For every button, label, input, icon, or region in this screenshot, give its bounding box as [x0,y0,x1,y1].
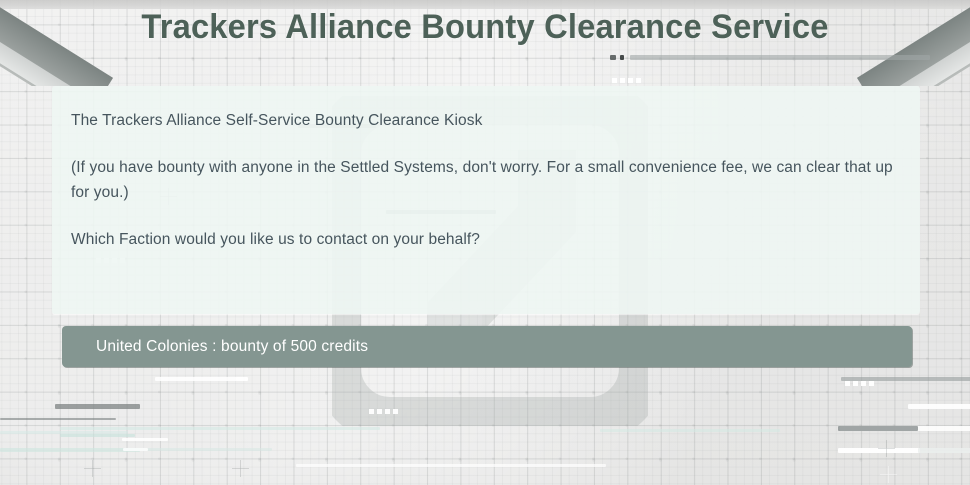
deco-streak [600,429,780,432]
crosshair-marker-icon [880,466,897,483]
deco-streak [155,377,240,381]
deco-streak [918,448,970,453]
dot-group-marker-icon [845,381,874,386]
deco-streak [0,448,140,452]
deco-streak [0,418,116,420]
deco-streak [0,431,128,434]
crosshair-marker-icon [84,460,101,477]
deco-streak [60,434,135,437]
option-label: United Colonies : bounty of 500 credits [96,338,368,356]
deco-streak [838,426,918,431]
dot-group-marker-icon [369,409,398,414]
dialog-panel: The Trackers Alliance Self-Service Bount… [52,86,920,314]
deco-streak [610,55,616,60]
kiosk-screen: Trackers Alliance Bounty Clearance Servi… [0,0,970,485]
deco-streak [620,55,624,60]
deco-streak [122,438,168,441]
page-title: Trackers Alliance Bounty Clearance Servi… [19,4,950,50]
dialog-paragraph-1: The Trackers Alliance Self-Service Bount… [71,108,896,133]
deco-streak [236,377,248,381]
crosshair-marker-icon [232,460,249,477]
dialog-paragraph-3: Which Faction would you like us to conta… [71,227,896,252]
option-united-colonies[interactable]: United Colonies : bounty of 500 credits [62,326,912,367]
deco-streak [123,448,148,451]
dot-group-marker-icon [612,78,641,83]
dialog-options-list: United Colonies : bounty of 500 credits [62,326,912,367]
dialog-paragraph-2: (If you have bounty with anyone in the S… [71,155,896,205]
deco-streak [296,464,606,467]
deco-streak [630,55,930,60]
crosshair-marker-icon [878,440,895,457]
deco-streak [55,404,140,409]
deco-streak [908,404,970,409]
dialog-body: The Trackers Alliance Self-Service Bount… [52,86,920,252]
deco-streak [60,427,380,430]
